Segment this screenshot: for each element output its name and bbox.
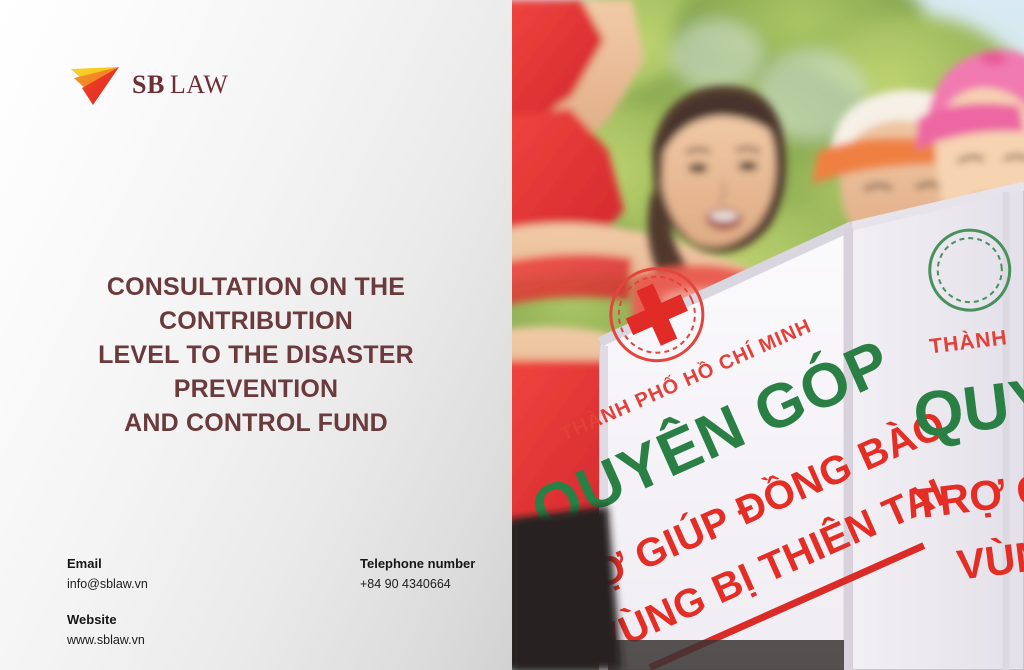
banner-canvas: SBLAW CONSULTATION ON THE CONTRIBUTION L… (0, 0, 1024, 670)
left-content-panel: SBLAW CONSULTATION ON THE CONTRIBUTION L… (0, 0, 512, 670)
page-title: CONSULTATION ON THE CONTRIBUTION LEVEL T… (24, 270, 488, 440)
website-value[interactable]: www.sblaw.vn (67, 630, 148, 650)
brand-wordmark: SBLAW (132, 72, 228, 98)
email-value[interactable]: info@sblaw.vn (67, 574, 148, 594)
contact-column-right: Telephone number +84 90 4340664 (360, 554, 475, 594)
brand-name-secondary: LAW (170, 70, 229, 99)
brand-logo[interactable]: SBLAW (70, 64, 228, 106)
contact-footer: Email info@sblaw.vn Website www.sblaw.vn… (0, 532, 512, 670)
email-label: Email (67, 554, 148, 574)
phone-label: Telephone number (360, 554, 475, 574)
page-title-line-1: CONSULTATION ON THE CONTRIBUTION (24, 270, 488, 338)
website-label: Website (67, 610, 148, 630)
page-title-line-3: AND CONTROL FUND (24, 406, 488, 440)
brand-name-primary: SB (132, 70, 165, 99)
phone-value[interactable]: +84 90 4340664 (360, 574, 475, 594)
hero-photo-illustration: THÀNH PHỐ HỒ CHÍ MINH QUYÊN GÓP TRỢ GIÚP… (512, 0, 1024, 670)
photo-overlay (512, 0, 1024, 670)
contact-column-left: Email info@sblaw.vn Website www.sblaw.vn (67, 554, 148, 650)
page-title-line-2: LEVEL TO THE DISASTER PREVENTION (24, 338, 488, 406)
hero-photo: THÀNH PHỐ HỒ CHÍ MINH QUYÊN GÓP TRỢ GIÚP… (512, 0, 1024, 670)
sblaw-arrow-logo-icon (70, 64, 120, 106)
